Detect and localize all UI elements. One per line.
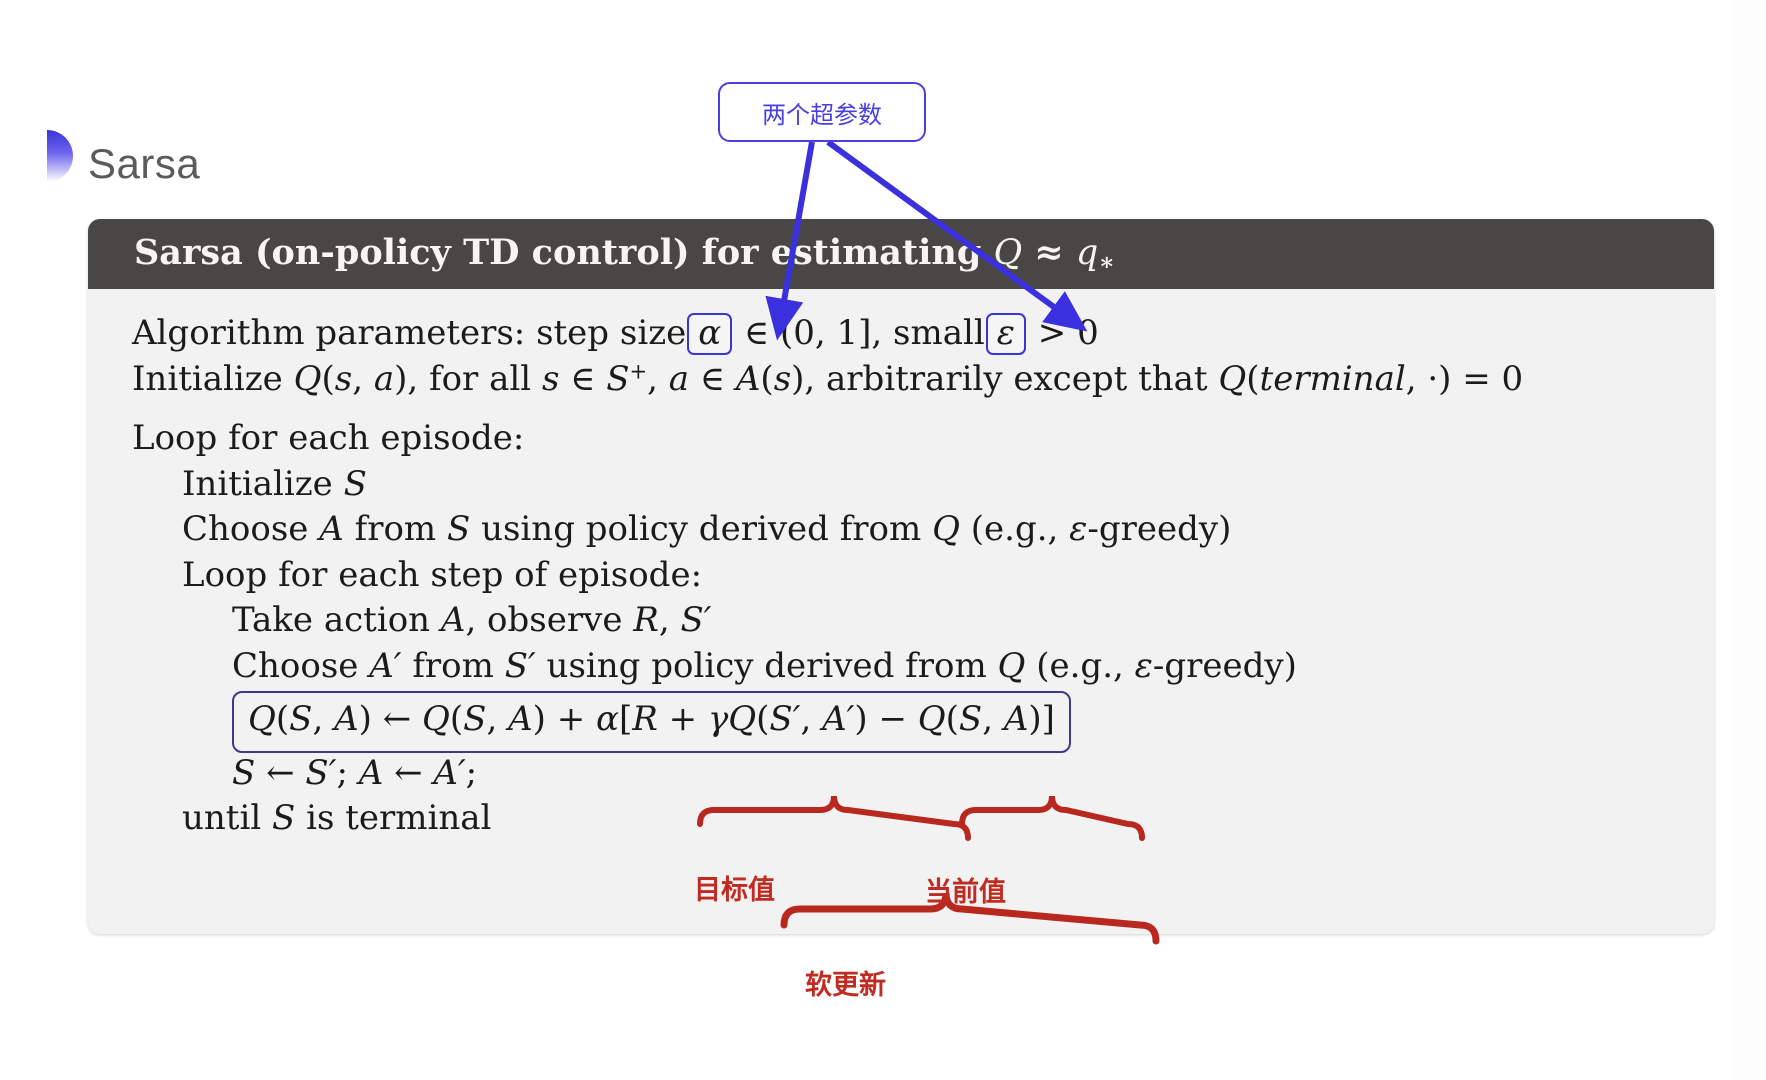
algorithm-body: Algorithm parameters: step sizeα ∈ (0, 1… — [88, 289, 1714, 842]
algo-line-loop-step: Loop for each step of episode: — [132, 553, 1714, 599]
algo-line-choose-a: Choose A from S using policy derived fro… — [132, 507, 1714, 553]
algo-line-loop-episode: Loop for each episode: — [132, 416, 1714, 462]
algo-line-initialize-q: Initialize Q(s, a), for all s ∈ S+, a ∈ … — [132, 357, 1714, 403]
algo-line-assign: S ← S′; A ← A′; — [132, 751, 1714, 797]
header-approx: ≈ — [1022, 232, 1076, 273]
algo-line-take-action: Take action A, observe R, S′ — [132, 598, 1714, 644]
update-equation-box: Q(S, A) ← Q(S, A) + α[R + γQ(S′, A′) − Q… — [232, 691, 1071, 753]
header-math-q: q — [1076, 233, 1098, 273]
algo-line-update-rule: Q(S, A) ← Q(S, A) + α[R + γQ(S′, A′) − Q… — [132, 691, 1714, 753]
algo-line-until: until S is terminal — [132, 796, 1714, 842]
callout-hyperparameters[interactable]: 两个超参数 — [718, 82, 926, 142]
algorithm-card: Sarsa (on-policy TD control) for estimat… — [88, 219, 1714, 934]
annotation-current-value: 当前值 — [925, 870, 1006, 909]
annotation-target-value: 目标值 — [694, 868, 775, 907]
header-math-subscript: ∗ — [1098, 247, 1115, 276]
algo-spacer — [132, 402, 1714, 416]
alpha-highlight-box: α — [687, 313, 732, 355]
callout-label: 两个超参数 — [762, 95, 882, 130]
header-math-Q: Q — [994, 233, 1023, 273]
page-title: Sarsa — [88, 140, 200, 188]
header-title-main: Sarsa (on-policy TD control) for estimat… — [134, 232, 994, 273]
algo-line-choose-a-prime: Choose A′ from S′ using policy derived f… — [132, 644, 1714, 690]
algo-line-parameters: Algorithm parameters: step sizeα ∈ (0, 1… — [132, 311, 1714, 357]
letterbox-right — [1732, 0, 1766, 1080]
title-bullet-shape — [47, 130, 73, 182]
letterbox-left — [0, 0, 34, 1080]
algorithm-header-title: Sarsa (on-policy TD control) for estimat… — [134, 232, 1115, 276]
algo-line-initialize-s: Initialize S — [132, 462, 1714, 508]
annotation-soft-update: 软更新 — [805, 963, 886, 1002]
epsilon-highlight-box: ε — [986, 313, 1026, 355]
algorithm-header-bar: Sarsa (on-policy TD control) for estimat… — [88, 219, 1714, 289]
